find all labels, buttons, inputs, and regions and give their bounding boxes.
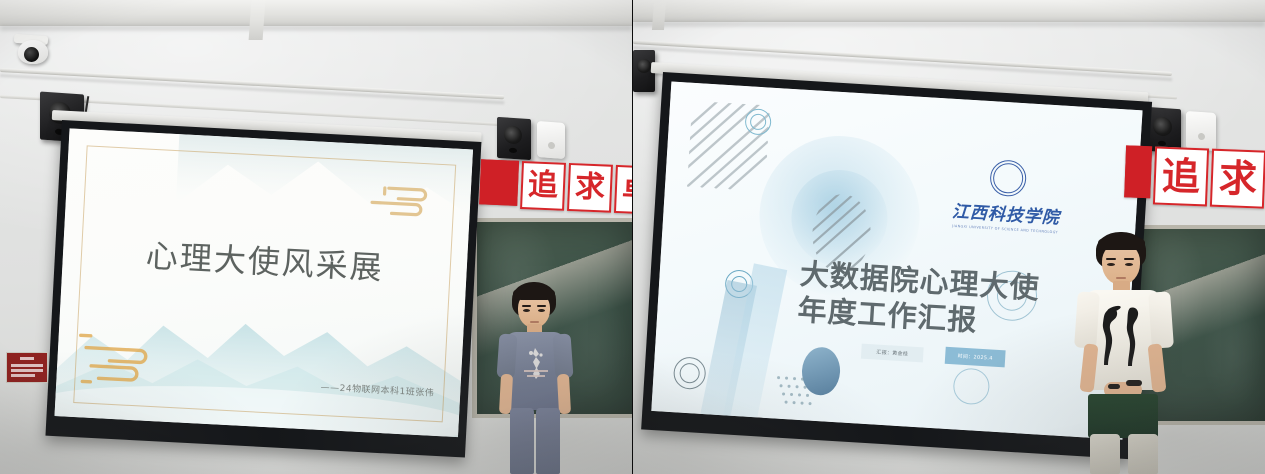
banner-char-0: 追: [520, 161, 566, 211]
right-photo: 追 求: [633, 0, 1265, 474]
left-photo: 追 求 卓: [0, 0, 632, 474]
wall-stains: [633, 0, 1265, 474]
banner-char-0: 追: [1153, 146, 1209, 206]
banner-char-red-block: [1124, 145, 1152, 198]
banner-char-1: 求: [1210, 149, 1265, 209]
banner-char-1: 求: [567, 163, 613, 213]
wall-banner-left: 追 求 卓: [479, 159, 632, 214]
wall-stains: [0, 0, 632, 474]
screenshot-canvas: 追 求 卓: [0, 0, 1265, 474]
panel-divider: [632, 0, 633, 474]
wall-banner-right: 追 求: [1124, 145, 1265, 208]
banner-char-2: 卓: [614, 165, 632, 215]
banner-char-red-block: [479, 159, 519, 206]
